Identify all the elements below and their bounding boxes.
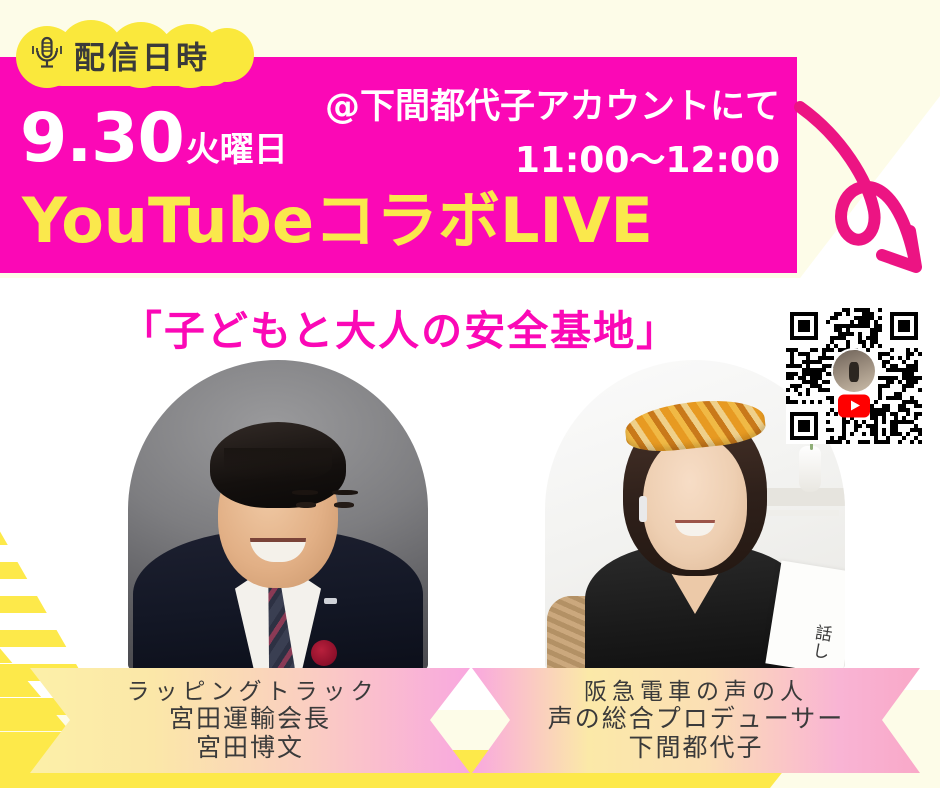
speaker-left-line1: ラッピングトラック [122,679,379,705]
microphone-icon [30,35,64,75]
hair [210,422,346,508]
speaker-right-line3: 下間都代子 [628,734,763,763]
time-range: 11:00〜12:00 [515,131,780,183]
eye-right [334,502,354,508]
page-title: YouTubeコラボLIVE [22,190,653,252]
speaker-left-line3: 宮田博文 [196,734,304,763]
portrait-left-image [128,360,428,670]
eyebrow-right [332,490,358,495]
date-number: 9.30 [20,105,184,173]
speaker-right-line1: 阪急電車の声の人 [584,679,808,705]
eye-left [296,502,316,508]
portrait-man-suit [128,360,428,670]
badge-label: 配信日時 [74,33,210,78]
speaker-caption-left: ラッピングトラック 宮田運輸会長 宮田博文 [30,668,470,773]
account-line: @下間都代子アカウントにて [325,78,780,129]
curly-arrow-icon [790,95,930,289]
qr-center-avatar [833,350,875,392]
qr-code-icon[interactable] [786,308,922,444]
speaker-left-line2: 宮田運輸会長 [169,705,331,734]
face [643,436,747,570]
broadcast-datetime-badge: 配信日時 [16,20,254,90]
lapel-flower [311,640,337,666]
lapel-pin [324,598,337,604]
broadcast-date: 9.30 火曜日 [20,105,288,173]
youtube-play-icon [838,394,870,417]
speaker-caption-right: 阪急電車の声の人 声の総合プロデューサー 下間都代子 [472,668,920,773]
eyebrow-left [292,490,318,495]
flyer-canvas: 配信日時 9.30 火曜日 @下間都代子アカウントにて 11:00〜12:00 … [0,0,940,788]
vase [799,446,821,492]
speaker-right-line2: 声の総合プロデューサー [548,705,845,734]
date-weekday: 火曜日 [186,133,288,167]
earring [639,496,647,522]
